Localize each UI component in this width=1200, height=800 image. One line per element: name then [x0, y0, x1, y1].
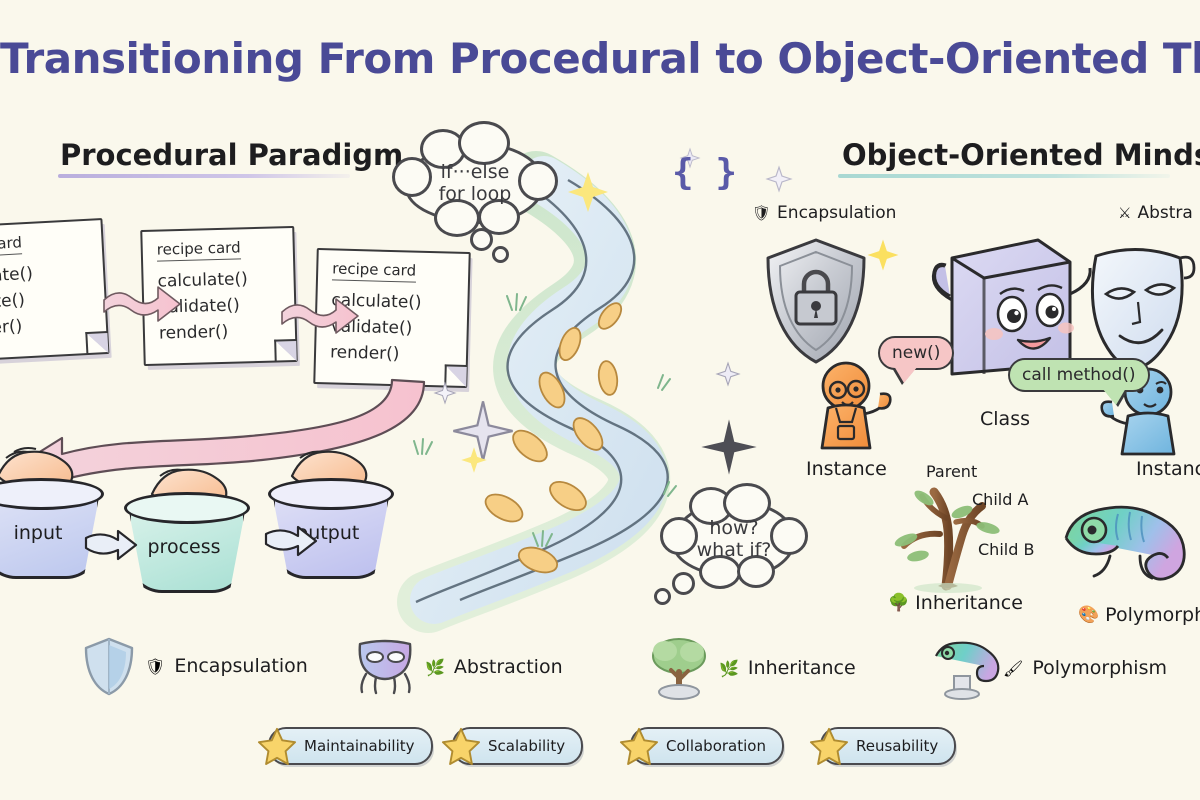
speech-tail	[894, 366, 918, 383]
crossed-swords-icon: ⚔	[1118, 206, 1131, 221]
leaf-glyph-icon: 🌿	[425, 658, 445, 677]
procedural-section-heading: Procedural Paradigm	[60, 138, 403, 172]
page-title: Transitioning From Procedural to Object-…	[0, 34, 1200, 83]
speech-bubble-new: new()	[878, 336, 954, 370]
thought-bubble-dot	[470, 228, 493, 251]
sparkle-icon	[434, 382, 456, 404]
bucket-rim	[268, 478, 394, 510]
star-icon	[442, 727, 480, 765]
badge-label: Reusability	[856, 737, 938, 755]
instance-label-right: Instanc	[1136, 458, 1200, 480]
mask-icon	[354, 636, 416, 698]
thought-bubble-dot	[492, 246, 509, 263]
pillar-label: Inheritance	[748, 657, 856, 679]
pillar-label: Abstraction	[454, 656, 563, 678]
callout-encapsulation: 🛡 Encapsulation	[752, 203, 896, 223]
speech-bubble-call-method: call method()	[1008, 358, 1150, 392]
inheritance-caption: 🌳 Inheritance	[888, 592, 1023, 614]
badge-label: Scalability	[488, 737, 565, 755]
callout-abstraction: ⚔ Abstra	[1118, 203, 1193, 223]
polymorphism-caption-label: Polymorphi	[1105, 604, 1200, 626]
tree-label-child-b: Child B	[978, 540, 1034, 559]
callout-label: Encapsulation	[777, 203, 896, 223]
badge-label: Collaboration	[666, 737, 766, 755]
badge-maintainability[interactable]: Maintainability	[268, 727, 433, 765]
tree-label-child-a: Child A	[972, 490, 1028, 509]
chameleon-icon	[932, 636, 994, 700]
thought-bubble-line: if···else	[439, 161, 512, 183]
badge-scalability[interactable]: Scalability	[452, 727, 583, 765]
pillar-abstraction: 🌿 Abstraction	[354, 636, 563, 698]
thought-bubble-dot	[672, 572, 695, 595]
thought-bubble-procedural: if···else for loop	[405, 142, 545, 224]
abstraction-mask-illustration	[1076, 240, 1200, 370]
speech-text: call method()	[1022, 365, 1136, 385]
tree-label-parent: Parent	[926, 462, 977, 481]
sparkle-icon	[566, 170, 610, 214]
tree-icon	[648, 636, 710, 700]
procedural-heading-underline	[58, 174, 350, 178]
badge-reusability[interactable]: Reusability	[820, 727, 956, 765]
thought-bubble-dot	[654, 588, 671, 605]
thought-bubble-oop: how? what if?	[672, 500, 796, 578]
thought-bubble-line: what if?	[697, 539, 772, 561]
shield-glyph-icon: 🛡	[145, 657, 165, 676]
class-label: Class	[980, 408, 1030, 430]
oo-section-heading: Object-Oriented Mindset	[842, 138, 1200, 172]
sparkle-icon	[766, 166, 792, 192]
instance-label-left: Instance	[806, 458, 887, 480]
pillar-encapsulation: 🛡 Encapsulation	[82, 636, 308, 696]
paint-brush-glyph-icon: 🖌	[1003, 659, 1023, 678]
paint-brush-icon: 🎨	[1078, 607, 1099, 624]
infographic-canvas: Transitioning From Procedural to Object-…	[0, 0, 1200, 800]
instance-figure-orange	[806, 360, 898, 456]
sparkle-icon	[716, 362, 740, 386]
badge-label: Maintainability	[304, 737, 415, 755]
inheritance-caption-label: Inheritance	[915, 592, 1023, 614]
star-icon	[810, 727, 848, 765]
sparkle-icon	[460, 446, 488, 474]
shield-icon	[82, 636, 136, 696]
speech-tail	[1102, 388, 1126, 405]
bucket-flow-arrows	[80, 520, 380, 580]
callout-label: Abstra	[1137, 203, 1192, 223]
thought-bubble-line: how?	[697, 517, 772, 539]
pillar-polymorphism: 🖌 Polymorphism	[932, 636, 1167, 700]
leaf-glyph-icon: 🌿	[719, 659, 739, 678]
pillar-inheritance: 🌿 Inheritance	[648, 636, 856, 700]
curly-braces-icon: { }	[672, 152, 737, 193]
chameleon-illustration	[1058, 494, 1200, 598]
cloud-lobe	[770, 517, 808, 555]
speech-text: new()	[892, 343, 940, 363]
pillar-label: Polymorphism	[1032, 657, 1167, 679]
star-icon	[620, 727, 658, 765]
star-icon	[258, 727, 296, 765]
cloud-lobe	[392, 157, 432, 197]
badge-collaboration[interactable]: Collaboration	[630, 727, 784, 765]
shield-lock-illustration	[760, 236, 872, 368]
cloud-lobe	[518, 161, 558, 201]
polymorphism-caption: 🎨 Polymorphi	[1078, 604, 1200, 626]
sparkle-icon	[866, 238, 900, 272]
cloud-lobe	[458, 121, 510, 165]
shield-icon: 🛡	[752, 206, 771, 221]
thought-bubble-line: for loop	[439, 183, 512, 205]
pillar-label: Encapsulation	[174, 655, 307, 677]
oo-heading-underline	[838, 174, 1170, 178]
cloud-lobe	[660, 517, 698, 555]
sparkle-icon	[700, 418, 758, 476]
tree-icon: 🌳	[888, 595, 909, 612]
